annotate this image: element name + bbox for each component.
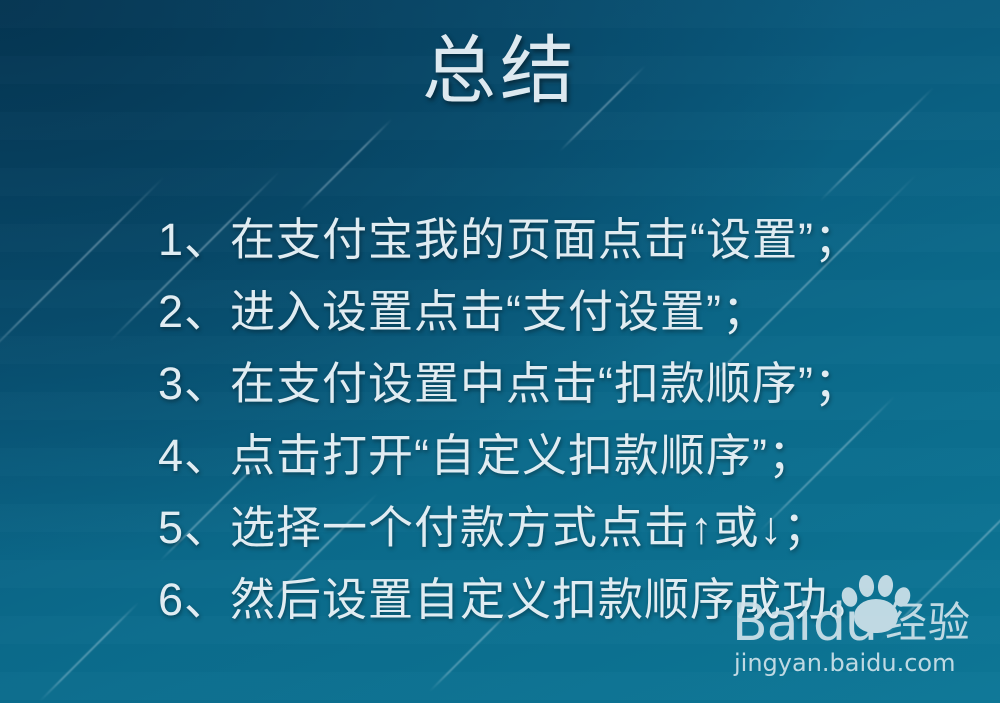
- baidu-jingyan-watermark: Bai du 经验 jingyan.baidu.com: [722, 581, 992, 691]
- list-item: 5、选择一个付款方式点击↑或↓；: [158, 492, 978, 564]
- list-item: 2、进入设置点击“支付设置”；: [158, 276, 978, 348]
- watermark-url: jingyan.baidu.com: [734, 649, 955, 677]
- paw-print-icon: [840, 571, 912, 635]
- presentation-slide: 总结 1、在支付宝我的页面点击“设置”； 2、进入设置点击“支付设置”； 3、在…: [0, 0, 1000, 703]
- paw-toe: [839, 585, 859, 609]
- list-item: 4、点击打开“自定义扣款顺序”；: [158, 420, 978, 492]
- list-item: 1、在支付宝我的页面点击“设置”；: [158, 204, 978, 276]
- paw-toe: [892, 585, 912, 609]
- paw-toe: [877, 574, 894, 597]
- list-item: 3、在支付设置中点击“扣款顺序”；: [158, 348, 978, 420]
- watermark-logo: Bai du 经验: [732, 589, 971, 649]
- paw-toe: [858, 574, 875, 597]
- page-title: 总结: [0, 34, 1000, 108]
- paw-pad: [854, 599, 898, 633]
- watermark-brand-bai: Bai: [732, 597, 811, 649]
